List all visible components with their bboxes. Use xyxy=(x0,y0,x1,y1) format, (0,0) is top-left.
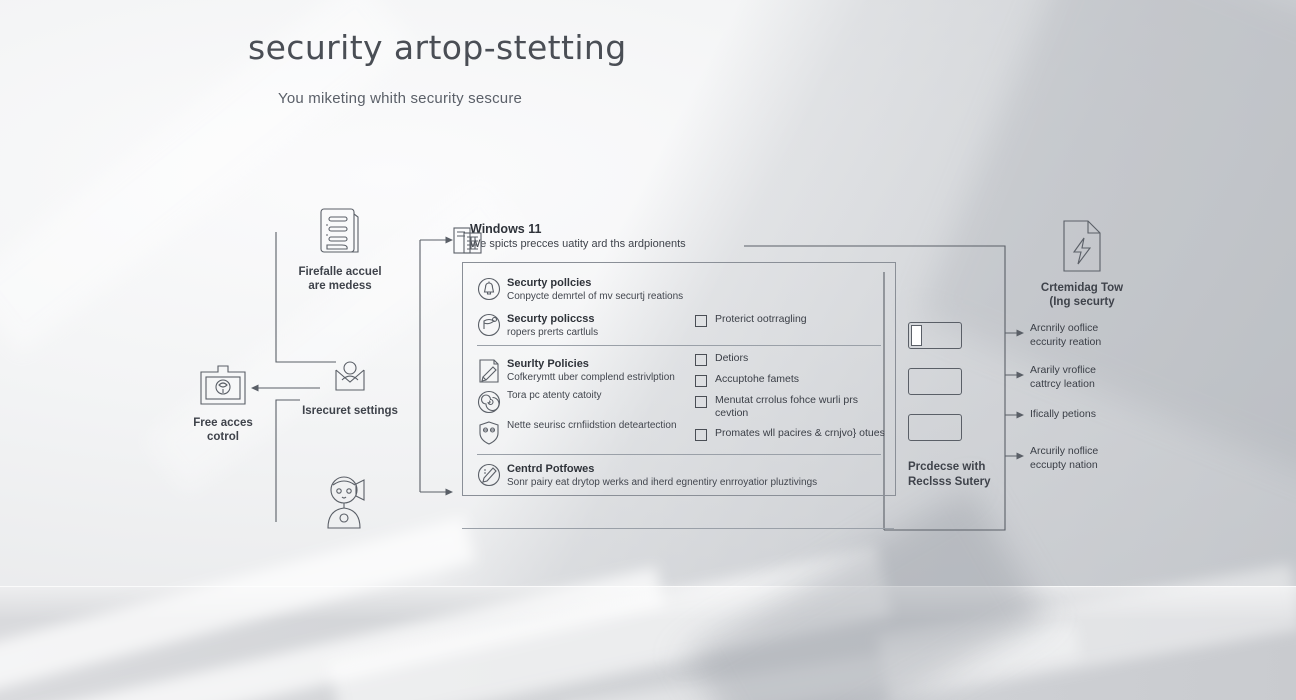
right-output-line1: Arcnrily ooflice xyxy=(1030,322,1140,336)
checkbox-row[interactable]: Detiors xyxy=(695,352,885,366)
panel-section-2: Seurlty Policies Cofkerymtt uber complen… xyxy=(463,346,895,448)
panel-header: Windows 11 We spicts precces uatity ard … xyxy=(470,222,870,251)
panel-baseline xyxy=(462,528,894,529)
toggle-stack-label-line2: Reclsss Sutery xyxy=(908,475,1028,490)
spiral-circle-icon xyxy=(477,389,507,414)
left-node-support-person[interactable] xyxy=(272,470,422,538)
panel-title: Windows 11 xyxy=(470,222,870,237)
panel-row[interactable]: Centrd Potfowes Sonr pairy eat drytop we… xyxy=(463,455,895,491)
left-node-firewall[interactable]: Firefalle accuel are medess xyxy=(265,205,415,293)
right-output-line2: eccurity reation xyxy=(1030,336,1140,350)
shield-circle-icon xyxy=(477,419,507,446)
row-title: Securty pollcies xyxy=(507,276,895,290)
person-headset-icon xyxy=(314,470,380,532)
checkbox-row[interactable]: Menutat crrolus fohce wurli prs cevtion xyxy=(695,394,885,420)
toggle-switch-3[interactable] xyxy=(908,414,962,441)
row-subtitle: Conpycte demrtel of mv securtj reations xyxy=(507,290,895,303)
left-target-access-control[interactable]: Free acces cotrol xyxy=(148,358,298,444)
panel-section-3: Centrd Potfowes Sonr pairy eat drytop we… xyxy=(463,455,895,491)
row-subtitle: Sonr pairy eat drytop werks and iherd eg… xyxy=(507,476,895,489)
toggle-stack-label-line1: Prcdecse with xyxy=(908,460,1028,475)
bell-circle-icon xyxy=(477,276,507,303)
checkbox-label: Menutat crrolus fohce wurli prs cevtion xyxy=(715,394,885,420)
checkbox-label: Proterict ootrragling xyxy=(715,313,807,326)
right-output-line1: Arcurily noflice xyxy=(1030,445,1140,459)
right-column: Crtemidag Tow (Ing securty xyxy=(1022,218,1142,309)
left-node-label-line1: Firefalle accuel xyxy=(265,265,415,279)
left-target-label-line1: Free acces xyxy=(148,416,298,430)
windows-building-icon xyxy=(452,224,486,256)
right-output-3[interactable]: Ifically petions xyxy=(1030,408,1140,422)
panel-card: Securty pollcies Conpycte demrtel of mv … xyxy=(462,262,896,496)
right-output-line2: eccupty nation xyxy=(1030,459,1140,473)
checkbox-box[interactable] xyxy=(695,375,707,387)
left-node-label-line2: are medess xyxy=(265,279,415,293)
document-notebook-icon xyxy=(312,205,368,259)
checkbox-label: Detiors xyxy=(715,352,748,365)
right-heading-line2: (Ing securty xyxy=(1022,295,1142,309)
right-output-2[interactable]: Ararily vroflice cattrcy leation xyxy=(1030,364,1140,391)
right-output-line1: Ararily vroflice xyxy=(1030,364,1140,378)
panel-section-1: Securty pollcies Conpycte demrtel of mv … xyxy=(463,263,895,341)
right-output-4[interactable]: Arcurily noflice eccupty nation xyxy=(1030,445,1140,472)
right-output-line1: Ifically petions xyxy=(1030,408,1140,422)
checkbox-box[interactable] xyxy=(695,396,707,408)
flag-circle-icon xyxy=(477,312,507,339)
checkbox-box[interactable] xyxy=(695,429,707,441)
checkbox-box[interactable] xyxy=(695,315,707,327)
panel-row[interactable]: Securty pollcies Conpycte demrtel of mv … xyxy=(463,269,895,305)
briefcase-lock-icon xyxy=(194,358,252,410)
checkbox-box[interactable] xyxy=(695,354,707,366)
panel-subtitle: We spicts precces uatity ard ths ardpion… xyxy=(470,237,870,251)
checkbox-label: Promates wll pacires & crnjvo} otues xyxy=(715,427,885,440)
pen-document-icon xyxy=(477,357,507,384)
pencil-circle-icon xyxy=(477,462,507,489)
document-lightning-icon xyxy=(1058,218,1106,274)
checkbox-row[interactable]: Accuptohe famets xyxy=(695,373,885,387)
right-heading-line1: Crtemidag Tow xyxy=(1022,281,1142,295)
right-output-line2: cattrcy leation xyxy=(1030,378,1140,392)
toggle-switch-1[interactable] xyxy=(908,322,962,349)
panel-checks-2: Detiors Accuptohe famets Menutat crrolus… xyxy=(695,352,885,448)
right-output-1[interactable]: Arcnrily ooflice eccurity reation xyxy=(1030,322,1140,349)
toggle-switch-2[interactable] xyxy=(908,368,962,395)
left-target-label-line2: cotrol xyxy=(148,430,298,444)
row-title: Centrd Potfowes xyxy=(507,462,895,476)
panel-row[interactable]: Securty policcss ropers prerts cartluls … xyxy=(463,305,895,341)
toggle-stack: Prcdecse with Reclsss Sutery xyxy=(908,322,1028,490)
user-card-icon xyxy=(328,358,372,398)
checkbox-label: Accuptohe famets xyxy=(715,373,799,386)
checkbox-row[interactable]: Promates wll pacires & crnjvo} otues xyxy=(695,427,885,441)
checkbox-row[interactable]: Proterict ootrragling xyxy=(695,313,885,327)
panel-checks-1: Proterict ootrragling xyxy=(695,313,885,334)
